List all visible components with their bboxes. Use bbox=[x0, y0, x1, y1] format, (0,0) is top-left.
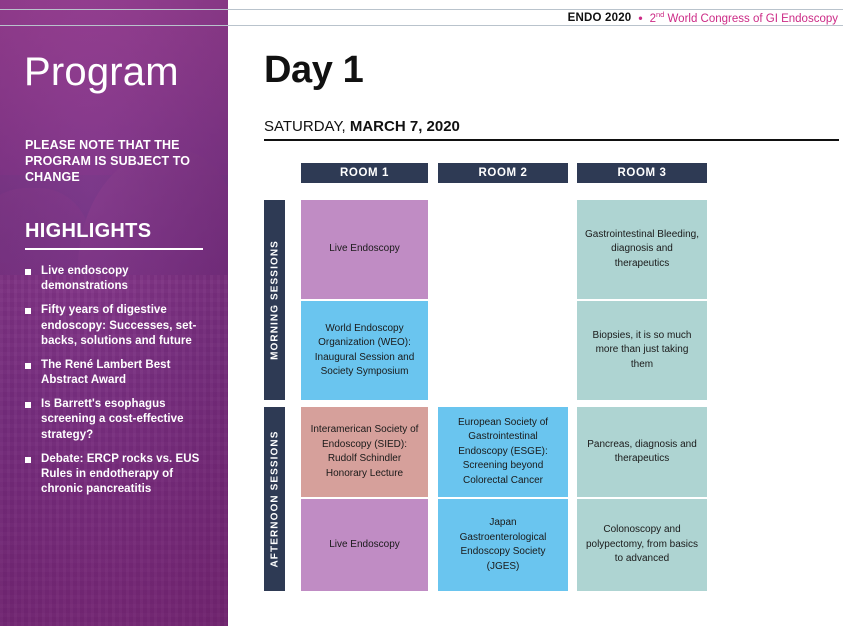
session-cell-text: Live Endoscopy bbox=[309, 538, 420, 553]
session-cell-text: Japan Gastroenterological Endoscopy Soci… bbox=[446, 516, 560, 574]
header-rule-bottom bbox=[228, 25, 843, 26]
session-cell[interactable]: Colonoscopy and polypectomy, from basics… bbox=[577, 499, 707, 591]
highlights-divider bbox=[25, 248, 203, 250]
brand-subtitle: 2nd World Congress of GI Endoscopy bbox=[650, 10, 838, 25]
session-cell-text: Live Endoscopy bbox=[309, 242, 420, 257]
square-bullet-icon bbox=[25, 457, 31, 463]
brand-name: ENDO 2020 bbox=[568, 12, 632, 24]
session-cell[interactable]: Gastrointestinal Bleeding, diagnosis and… bbox=[577, 200, 707, 299]
session-label-afternoon: AFTERNOON SESSIONS bbox=[264, 407, 285, 591]
date-line: SATURDAY, MARCH 7, 2020 bbox=[264, 118, 460, 135]
session-cell-text: Biopsies, it is so much more than just t… bbox=[585, 329, 699, 373]
session-cell[interactable]: Pancreas, diagnosis and therapeutics bbox=[577, 407, 707, 497]
page-title: Program bbox=[24, 52, 179, 92]
highlights-heading: HIGHLIGHTS bbox=[25, 220, 151, 243]
session-cell[interactable]: Live Endoscopy bbox=[301, 200, 428, 299]
date-full: MARCH 7, 2020 bbox=[350, 118, 460, 135]
sidebar-top-rule-1 bbox=[0, 9, 228, 10]
sidebar-top-rule-2 bbox=[0, 25, 228, 26]
session-cell[interactable]: World Endoscopy Organization (WEO): Inau… bbox=[301, 301, 428, 400]
session-cell-text: Colonoscopy and polypectomy, from basics… bbox=[585, 523, 699, 567]
session-cell[interactable]: Interamerican Society of Endoscopy (SIED… bbox=[301, 407, 428, 497]
list-item: The René Lambert Best Abstract Award bbox=[25, 358, 215, 388]
session-label-afternoon-text: AFTERNOON SESSIONS bbox=[269, 430, 280, 567]
highlights-list: Live endoscopy demonstrations Fifty year… bbox=[25, 264, 215, 506]
date-divider bbox=[264, 139, 839, 141]
session-cell[interactable]: Live Endoscopy bbox=[301, 499, 428, 591]
session-cell-text: Pancreas, diagnosis and therapeutics bbox=[585, 438, 699, 467]
brand-subtitle-rest: World Congress of GI Endoscopy bbox=[664, 13, 838, 25]
highlight-text: Debate: ERCP rocks vs. EUS Rules in endo… bbox=[41, 452, 215, 498]
list-item: Fifty years of digestive endoscopy: Succ… bbox=[25, 303, 215, 349]
room-header-1: ROOM 1 bbox=[301, 163, 428, 183]
brand-separator-dot: • bbox=[638, 11, 642, 25]
header-brand: ENDO 2020 • 2nd World Congress of GI End… bbox=[568, 10, 838, 25]
session-cell-text: European Society of Gastrointestinal End… bbox=[446, 416, 560, 489]
session-cell[interactable]: Biopsies, it is so much more than just t… bbox=[577, 301, 707, 400]
highlight-text: Is Barrett's esophagus screening a cost-… bbox=[41, 397, 215, 443]
session-label-morning-text: MORNING SESSIONS bbox=[269, 240, 280, 360]
square-bullet-icon bbox=[25, 269, 31, 275]
list-item: Debate: ERCP rocks vs. EUS Rules in endo… bbox=[25, 452, 215, 498]
session-cell[interactable]: European Society of Gastrointestinal End… bbox=[438, 407, 568, 497]
program-change-note: PLEASE NOTE THAT THE PROGRAM IS SUBJECT … bbox=[25, 137, 205, 185]
session-cell-text: Interamerican Society of Endoscopy (SIED… bbox=[309, 423, 420, 481]
date-weekday: SATURDAY, bbox=[264, 118, 350, 135]
square-bullet-icon bbox=[25, 363, 31, 369]
list-item: Live endoscopy demonstrations bbox=[25, 264, 215, 294]
session-cell-text: World Endoscopy Organization (WEO): Inau… bbox=[309, 322, 420, 380]
list-item: Is Barrett's esophagus screening a cost-… bbox=[25, 397, 215, 443]
program-page: Program PLEASE NOTE THAT THE PROGRAM IS … bbox=[0, 0, 843, 626]
square-bullet-icon bbox=[25, 308, 31, 314]
session-label-morning: MORNING SESSIONS bbox=[264, 200, 285, 400]
day-title: Day 1 bbox=[264, 51, 363, 89]
highlight-text: The René Lambert Best Abstract Award bbox=[41, 358, 215, 388]
session-cell-text: Gastrointestinal Bleeding, diagnosis and… bbox=[585, 228, 699, 272]
highlight-text: Live endoscopy demonstrations bbox=[41, 264, 215, 294]
room-header-3: ROOM 3 bbox=[577, 163, 707, 183]
square-bullet-icon bbox=[25, 402, 31, 408]
room-header-2: ROOM 2 bbox=[438, 163, 568, 183]
session-cell[interactable]: Japan Gastroenterological Endoscopy Soci… bbox=[438, 499, 568, 591]
highlight-text: Fifty years of digestive endoscopy: Succ… bbox=[41, 303, 215, 349]
sidebar: Program PLEASE NOTE THAT THE PROGRAM IS … bbox=[0, 0, 228, 626]
